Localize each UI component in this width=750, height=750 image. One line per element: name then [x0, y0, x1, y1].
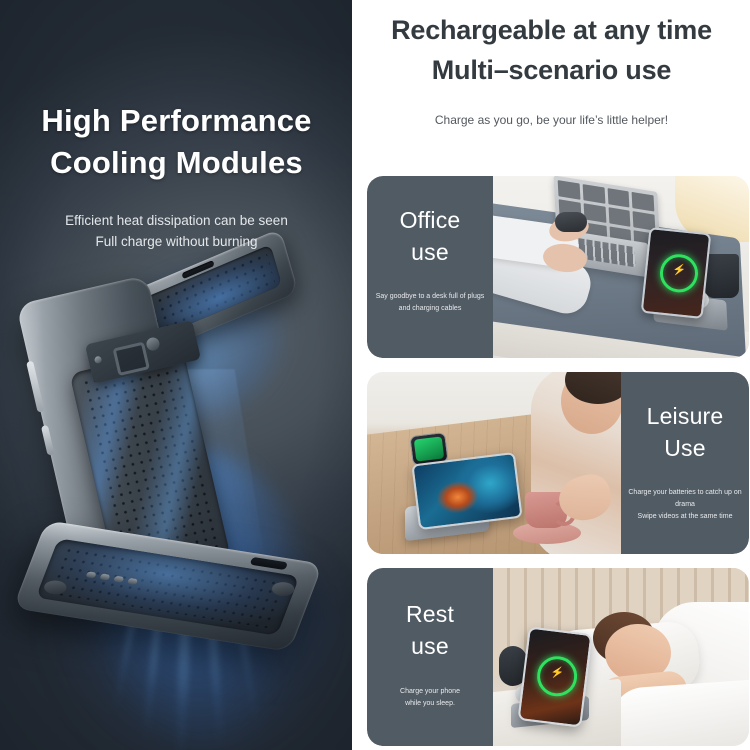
- rest-card-heading: Rest use: [367, 598, 493, 662]
- office-heading-line-1: Office: [367, 204, 493, 236]
- desk-mug: [705, 254, 739, 298]
- scenario-card-rest: ⚡ Rest use Charge your phone while you s…: [367, 568, 749, 746]
- leisure-card-body: Charge your batteries to catch up on dra…: [621, 487, 749, 523]
- phone-on-charger: ⚡: [641, 227, 712, 319]
- right-panel-title: Rechargeable at any time Multi–scenario …: [353, 10, 750, 90]
- office-body-line-2: and charging cables: [367, 303, 493, 315]
- rest-heading-line-2: use: [367, 630, 493, 662]
- left-panel-subtitle: Efficient heat dissipation can be seen F…: [0, 210, 353, 252]
- leisure-body-line-2: Swipe videos at the same time: [621, 511, 749, 523]
- watch-screen: [414, 436, 444, 461]
- product-marketing-image: High Performance Cooling Modules Efficie…: [0, 0, 750, 750]
- rest-heading-line-1: Rest: [367, 598, 493, 630]
- left-subtitle-line-1: Efficient heat dissipation can be seen: [0, 210, 353, 231]
- scenario-card-leisure: Leisure Use Charge your batteries to cat…: [367, 372, 749, 554]
- rest-body-line-2: while you sleep.: [367, 698, 493, 710]
- lightning-bolt-icon: ⚡: [550, 667, 565, 680]
- scenario-card-office: ⚡ Office use Say goodbye to a desk full …: [367, 176, 749, 358]
- rest-body-line-1: Charge your phone: [367, 686, 493, 698]
- leisure-heading-line-2: Use: [621, 432, 749, 464]
- left-title-line-1: High Performance: [0, 100, 353, 142]
- leisure-body-line-1: Charge your batteries to catch up on dra…: [621, 487, 749, 511]
- rest-card-body: Charge your phone while you sleep.: [367, 686, 493, 710]
- right-title-line-1: Rechargeable at any time: [353, 10, 750, 50]
- left-feature-panel: High Performance Cooling Modules Efficie…: [0, 0, 353, 750]
- office-heading-line-2: use: [367, 236, 493, 268]
- right-title-line-2: Multi–scenario use: [353, 50, 750, 90]
- rest-card-text-block: Rest use Charge your phone while you sle…: [367, 568, 493, 746]
- left-title-line-2: Cooling Modules: [0, 142, 353, 184]
- computer-mouse: [555, 212, 587, 232]
- office-card-text-block: Office use Say goodbye to a desk full of…: [367, 176, 493, 358]
- office-body-line-1: Say goodbye to a desk full of plugs: [367, 291, 493, 303]
- leisure-card-text-block: Leisure Use Charge your batteries to cat…: [621, 372, 749, 554]
- office-card-body: Say goodbye to a desk full of plugs and …: [367, 291, 493, 315]
- leisure-scene-photo: [367, 372, 621, 554]
- right-panel-subtitle: Charge as you go, be your life’s little …: [353, 113, 750, 127]
- office-card-heading: Office use: [367, 204, 493, 268]
- rest-scene-photo: ⚡: [493, 568, 749, 746]
- phone-on-charger: ⚡: [518, 626, 593, 727]
- leisure-heading-line-1: Leisure: [621, 400, 749, 432]
- phone-landscape-playing-video: [411, 452, 522, 530]
- right-scenario-panel: Rechargeable at any time Multi–scenario …: [353, 0, 750, 750]
- left-panel-title: High Performance Cooling Modules: [0, 100, 353, 184]
- office-scene-photo: ⚡: [493, 176, 749, 358]
- leisure-card-heading: Leisure Use: [621, 400, 749, 464]
- lightning-bolt-icon: ⚡: [672, 265, 687, 277]
- left-subtitle-line-2: Full charge without burning: [0, 231, 353, 252]
